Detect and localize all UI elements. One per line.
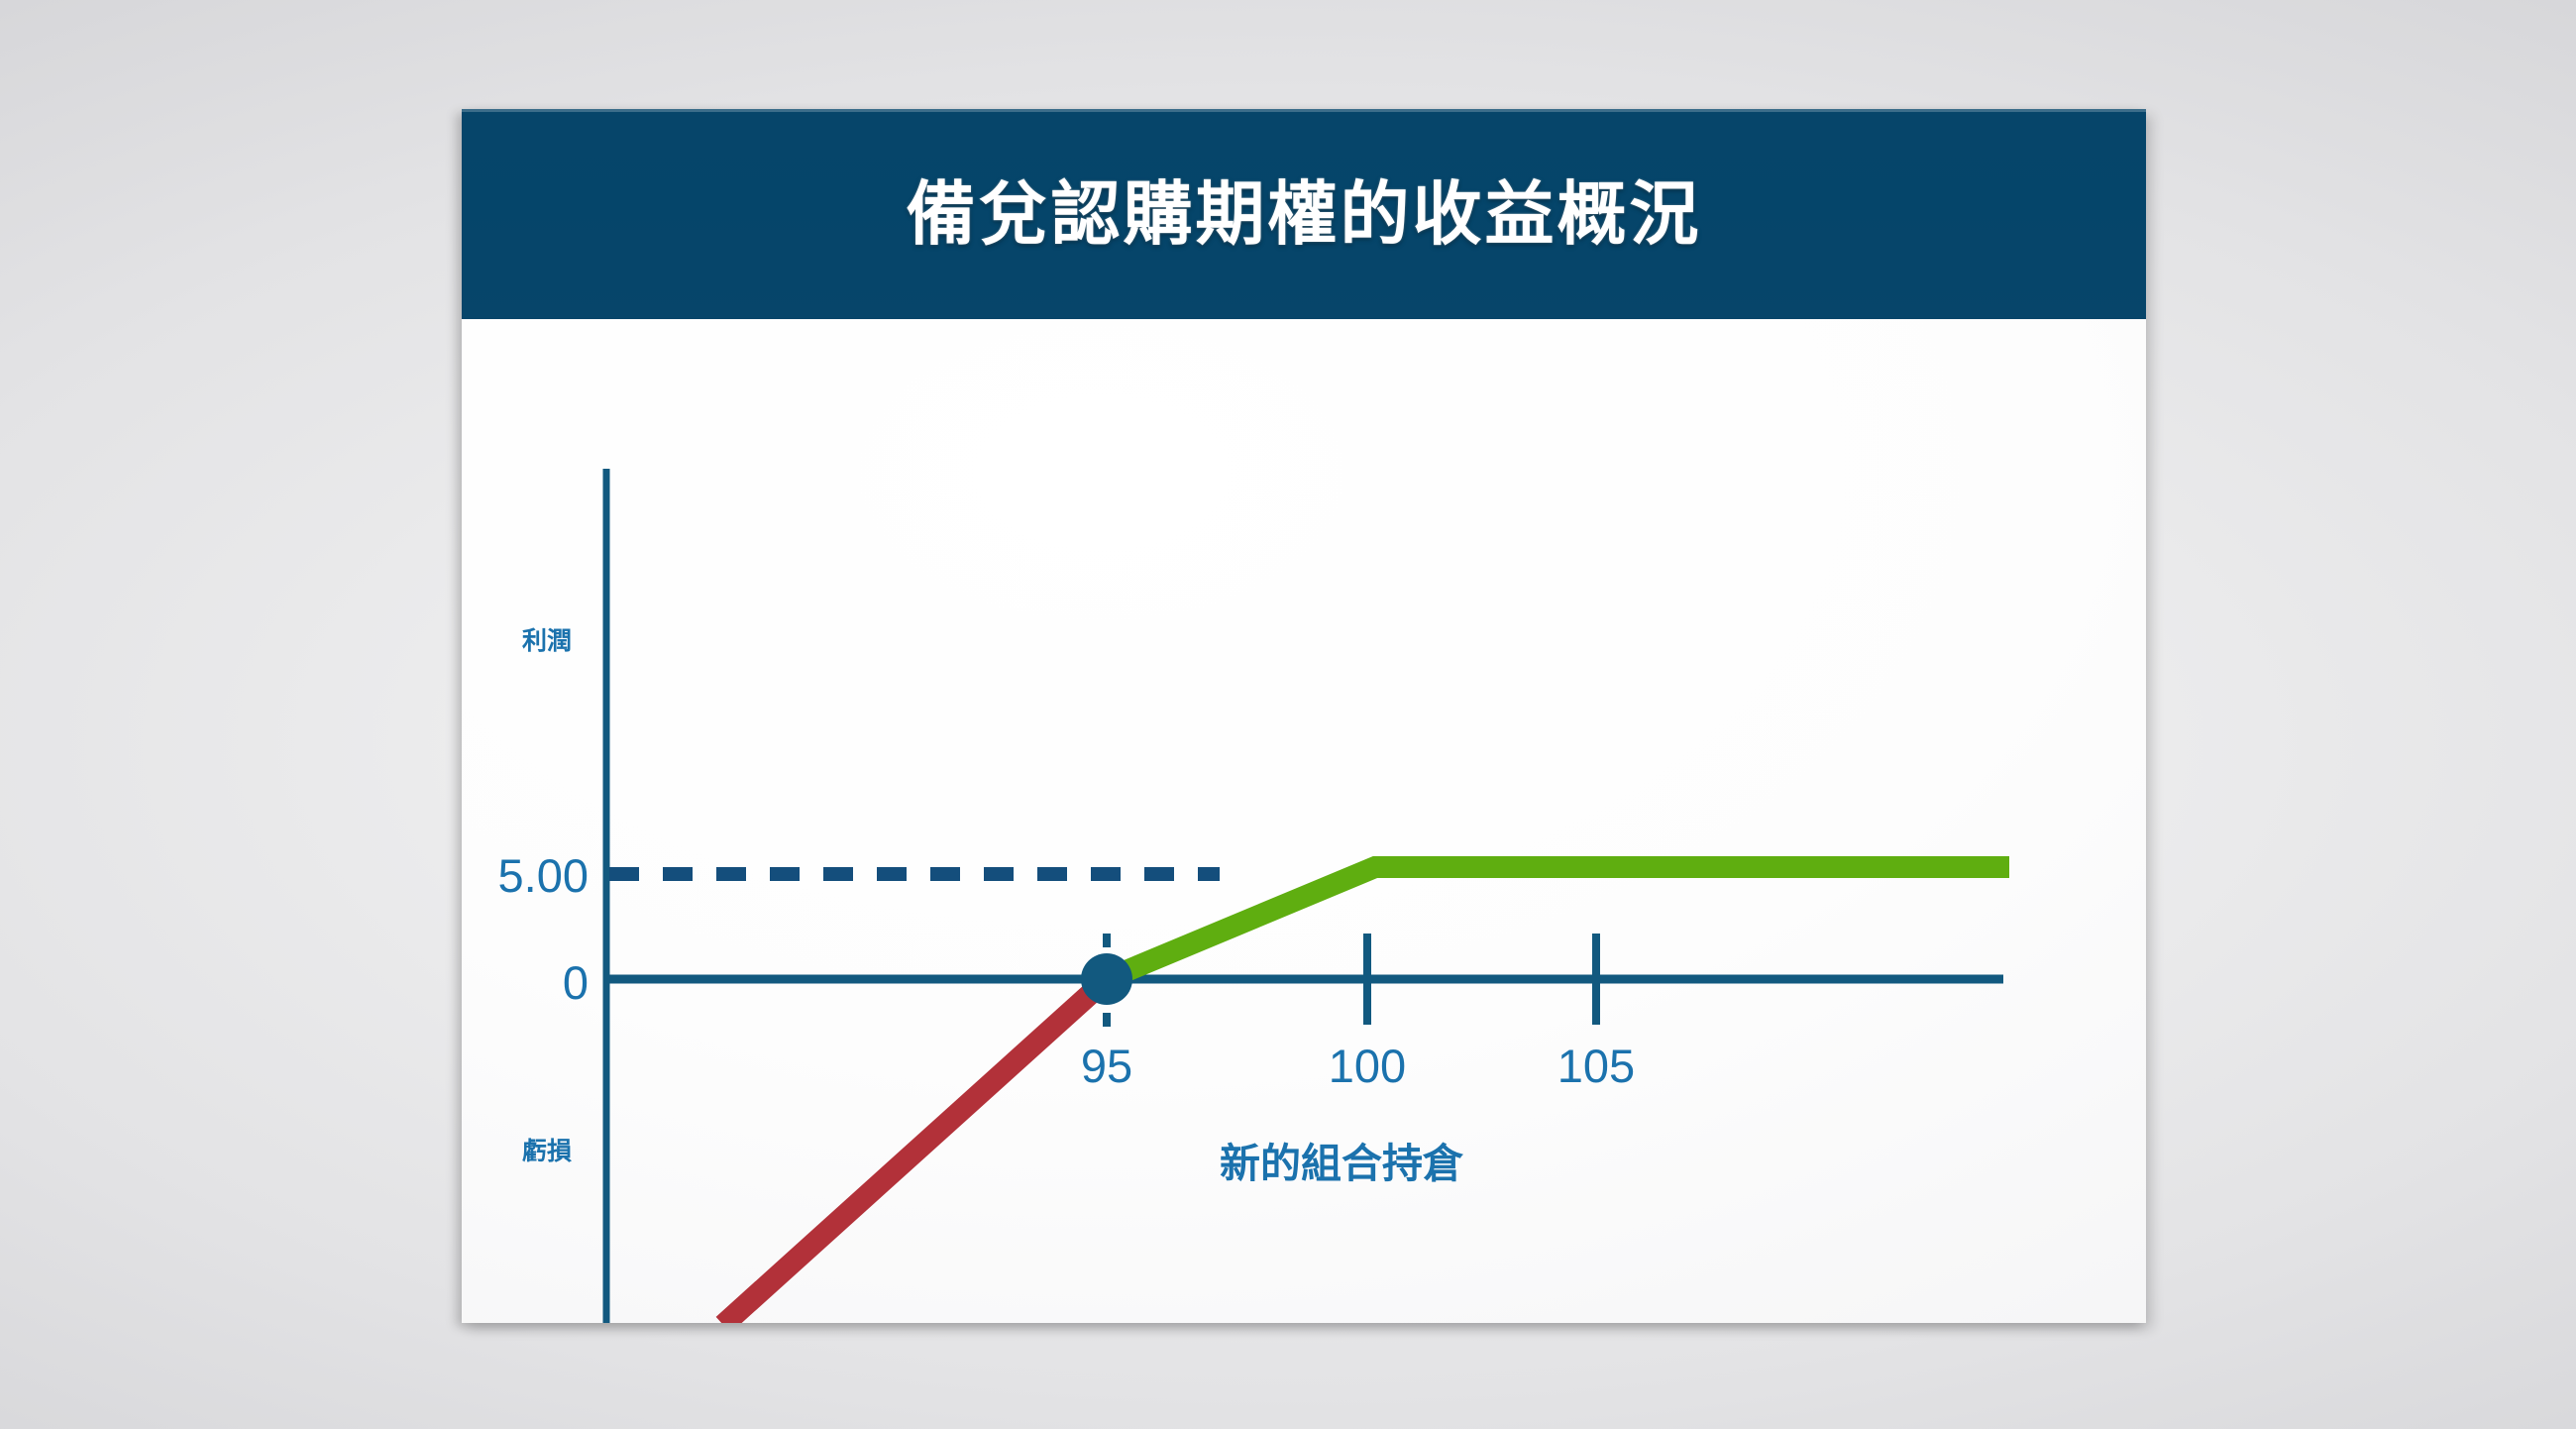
x-tick-95-upper <box>1103 934 1111 947</box>
chart-annotation-new-position: 新的組合持倉 <box>1220 1140 1463 1187</box>
payoff-chart: 利潤 虧損 5.00 0 95 100 105 新的組合持倉 <box>462 319 2146 1323</box>
slide-title-band: 備兌認購期權的收益概況 <box>462 109 2146 319</box>
y-axis-profit-label: 利潤 <box>522 626 572 655</box>
y-axis-loss-label: 虧損 <box>522 1137 572 1165</box>
y-tick-label-5: 5.00 <box>498 849 589 902</box>
page-title: 備兌認購期權的收益概況 <box>907 179 1702 249</box>
x-tick-label-100: 100 <box>1329 1040 1406 1092</box>
profit-leg-line <box>1107 867 2009 979</box>
screenshot-stage: 備兌認購期權的收益概況 <box>0 0 2576 1429</box>
presentation-slide: 備兌認購期權的收益概況 <box>462 109 2146 1323</box>
breakeven-point-marker <box>1081 953 1132 1005</box>
y-tick-label-0: 0 <box>563 956 589 1009</box>
loss-leg-line <box>723 979 1107 1323</box>
x-tick-label-105: 105 <box>1557 1040 1635 1092</box>
x-tick-95-lower <box>1103 1013 1111 1027</box>
x-tick-label-95: 95 <box>1081 1040 1132 1092</box>
slide-canvas: 備兌認購期權的收益概況 <box>462 109 2146 1323</box>
